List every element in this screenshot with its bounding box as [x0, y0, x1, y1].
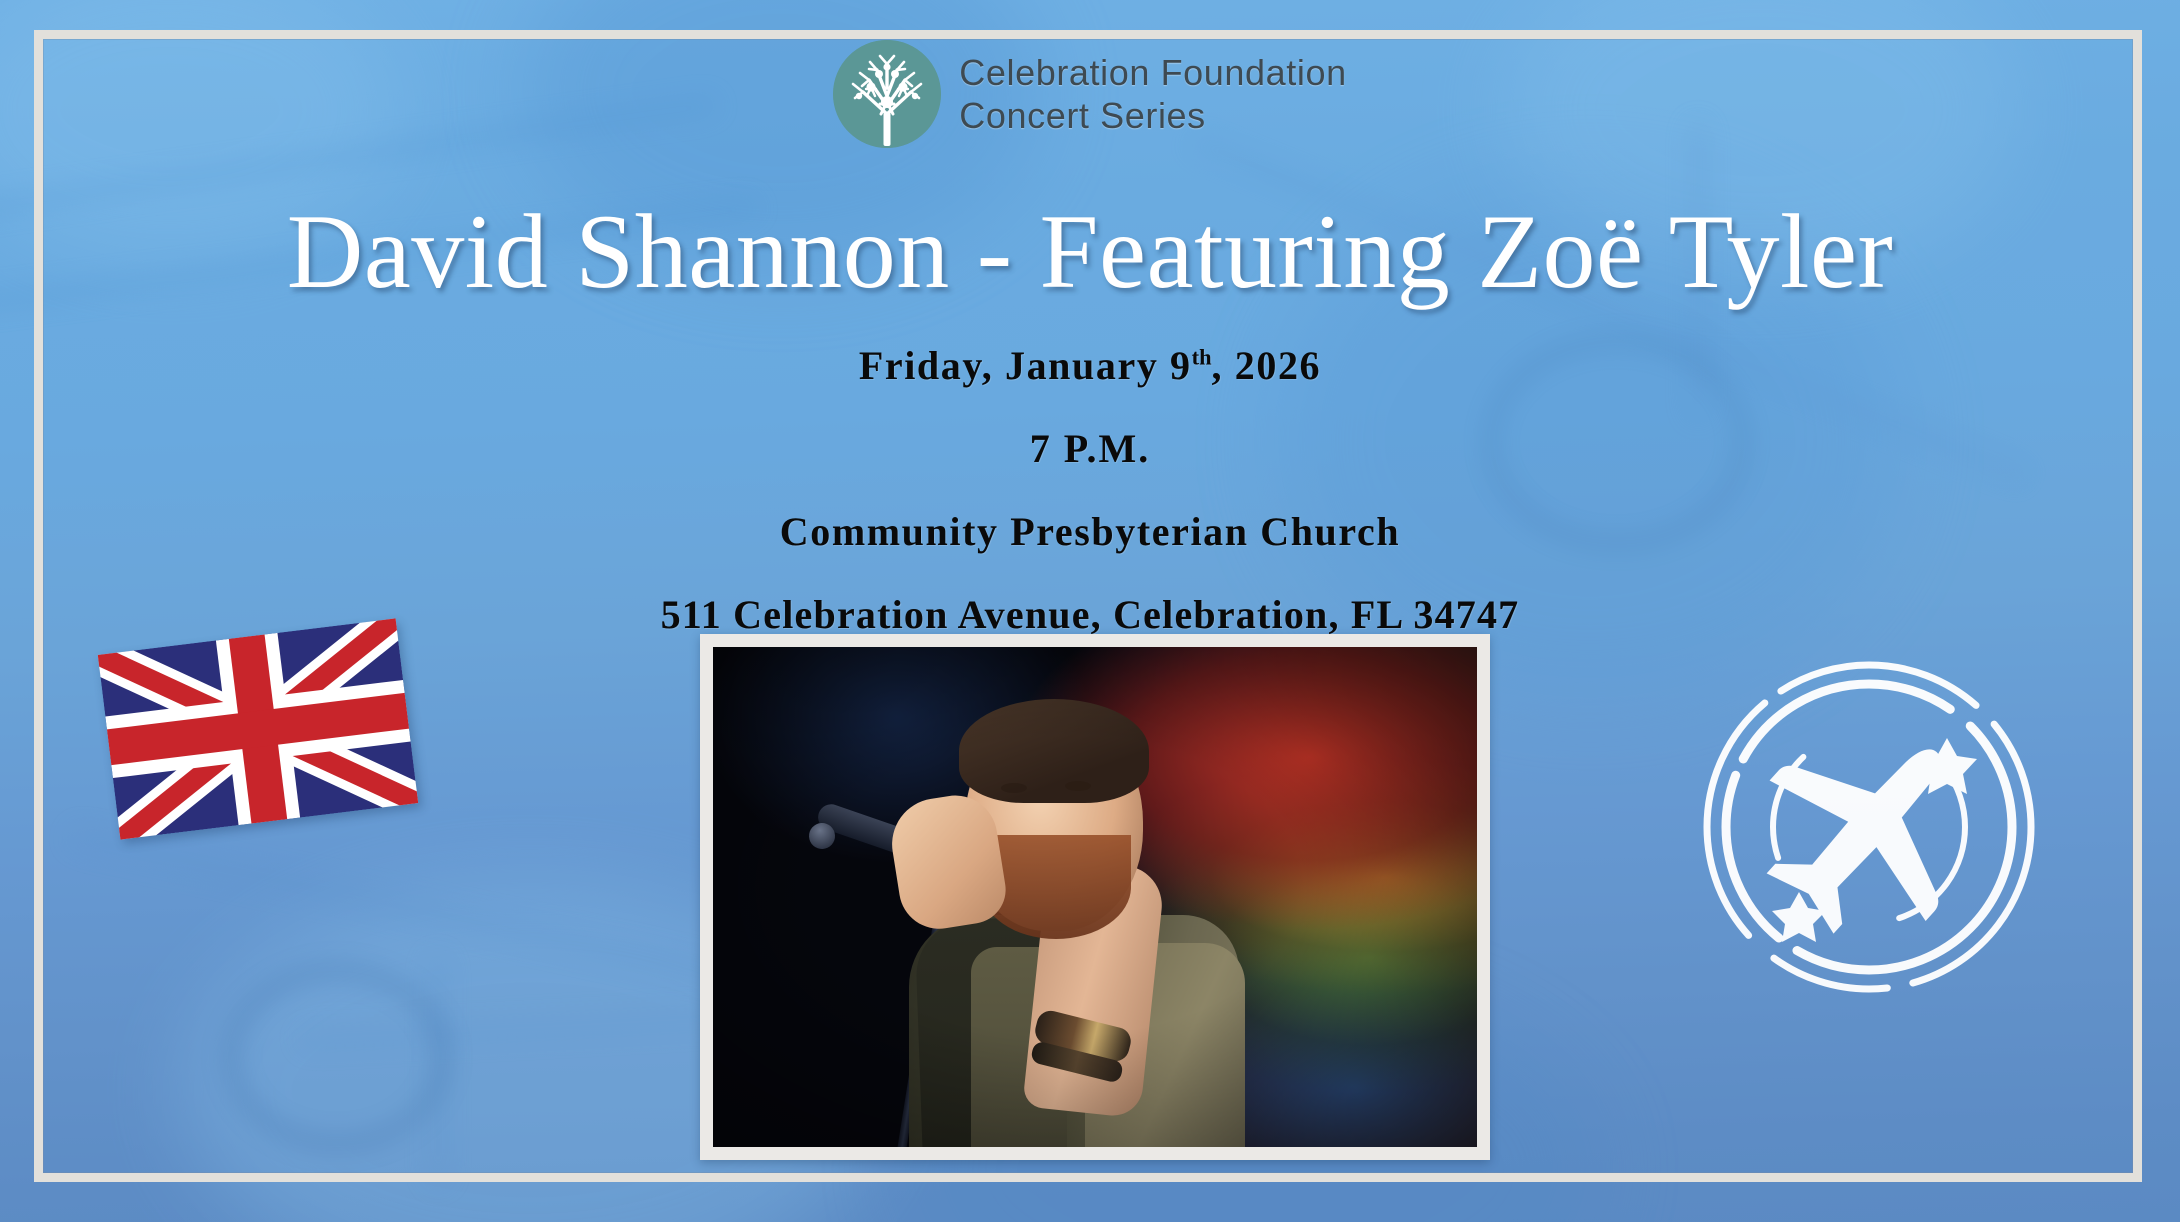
brand-text: Celebration Foundation Concert Series	[959, 54, 1346, 134]
united-kingdom-flag-icon	[98, 618, 418, 839]
event-poster: Celebration Foundation Concert Series Da…	[0, 0, 2180, 1222]
performer-photo-frame	[700, 634, 1490, 1160]
celebration-foundation-tree-logo-icon	[833, 40, 941, 148]
event-date-prefix: Friday, January 9	[859, 343, 1192, 388]
airplane-travel-stamp-icon	[1694, 652, 2044, 1002]
event-details: Friday, January 9th, 2026 7 P.M. Communi…	[0, 342, 2180, 638]
event-time: 7 P.M.	[0, 425, 2180, 472]
photo-vignette	[713, 647, 1477, 1147]
bg-note-head-1	[220, 960, 454, 1154]
bg-note-stem-1	[430, 955, 446, 1185]
page-title: David Shannon - Featuring Zoë Tyler	[0, 196, 2180, 308]
performer-photo	[713, 647, 1477, 1147]
event-date-suffix: , 2026	[1212, 343, 1322, 388]
event-date: Friday, January 9th, 2026	[0, 342, 2180, 389]
brand-line-concert-series: Concert Series	[959, 97, 1346, 134]
brand-lockup: Celebration Foundation Concert Series	[0, 40, 2180, 148]
event-date-ordinal: th	[1192, 345, 1212, 370]
event-venue: Community Presbyterian Church	[0, 508, 2180, 555]
brand-line-foundation: Celebration Foundation	[959, 54, 1346, 91]
